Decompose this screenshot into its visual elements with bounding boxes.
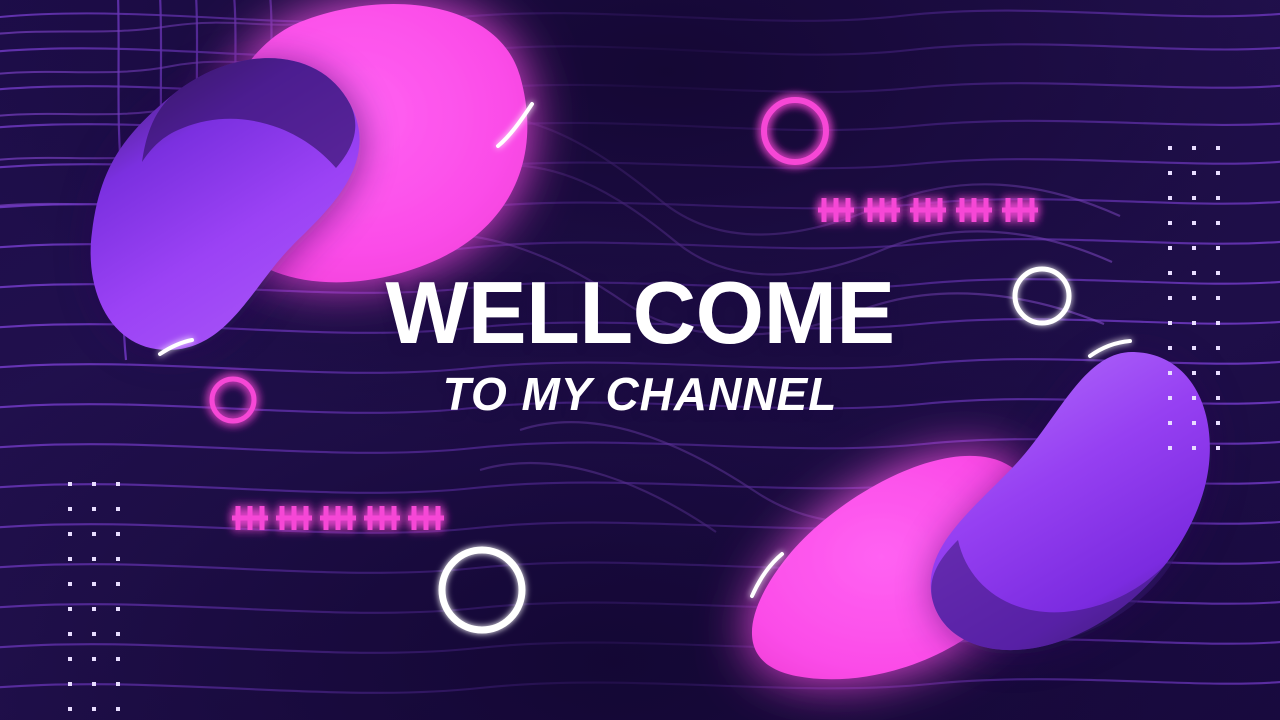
- pink-blob-top-left: [212, 4, 527, 282]
- white-ring-bottom: [442, 550, 522, 630]
- arc-top-center: [498, 104, 532, 146]
- arc-bottom-center: [752, 554, 782, 596]
- pink-ring-top-right: [764, 100, 826, 162]
- grid-lines-topleft-h: [0, 22, 326, 206]
- headline-block: WELLCOME TO MY CHANNEL: [0, 272, 1280, 417]
- welcome-banner: WELLCOME TO MY CHANNEL: [0, 0, 1280, 720]
- tally-group-bottom-left: [232, 506, 444, 530]
- pink-blob-bottom-right: [752, 456, 1039, 679]
- page-title: WELLCOME: [0, 272, 1280, 355]
- tally-group-top-right: [818, 198, 1038, 222]
- page-subtitle: TO MY CHANNEL: [0, 371, 1280, 417]
- dot-grid-left: [68, 482, 120, 720]
